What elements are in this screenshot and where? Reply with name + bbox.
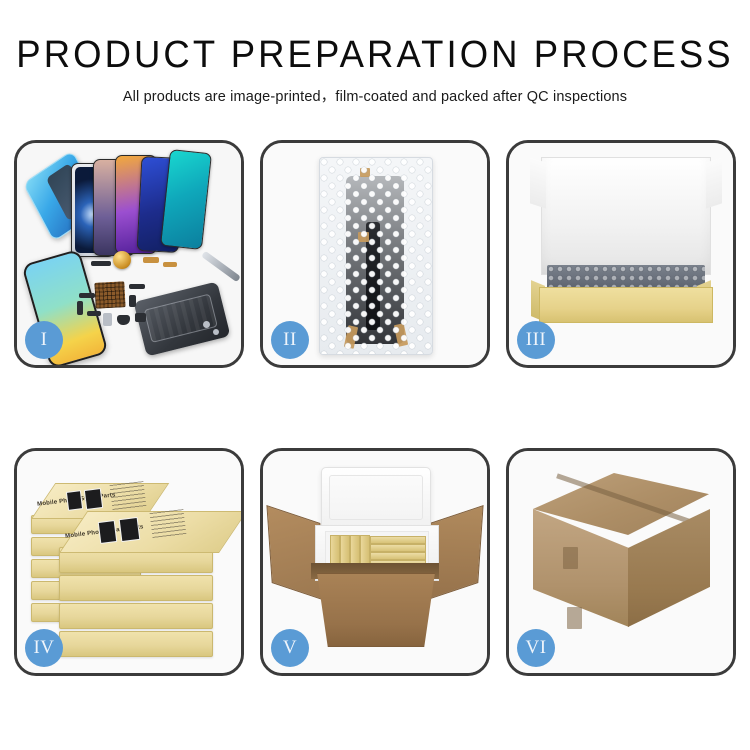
stacked-box bbox=[59, 575, 213, 601]
carton-hand-hole bbox=[563, 547, 578, 569]
spare-part bbox=[135, 313, 146, 322]
packed-box bbox=[370, 552, 426, 560]
carton-sealed-image: VI bbox=[509, 451, 733, 673]
step-badge-4: IV bbox=[25, 629, 63, 667]
spare-part bbox=[87, 311, 101, 316]
carton-hand-hole bbox=[567, 607, 582, 629]
box-lid-open bbox=[541, 157, 711, 275]
step-badge-1: I bbox=[25, 321, 63, 359]
spare-part bbox=[129, 295, 136, 307]
box-label-spec-lines bbox=[150, 509, 187, 539]
box-front-panel bbox=[539, 287, 713, 323]
step-panel-product-overview[interactable]: I bbox=[14, 140, 244, 368]
step-panel-carton-sealed[interactable]: VI bbox=[506, 448, 736, 676]
spare-part bbox=[203, 321, 210, 328]
carton-body bbox=[309, 573, 443, 647]
step-panel-inner-box-packed[interactable]: III bbox=[506, 140, 736, 368]
step-panel-boxes-stacked[interactable]: Mobile Phone Spare Parts Mobile Phone Sp… bbox=[14, 448, 244, 676]
step-badge-6: VI bbox=[517, 629, 555, 667]
copper-shield-part bbox=[94, 281, 125, 309]
boxes-stacked-image: Mobile Phone Spare Parts Mobile Phone Sp… bbox=[17, 451, 241, 673]
foam-carton-loaded-image: V bbox=[263, 451, 487, 673]
box-label-product-image bbox=[66, 490, 83, 511]
spare-part bbox=[103, 313, 112, 326]
step-badge-3: III bbox=[517, 321, 555, 359]
step-panel-bubble-wrapped-part[interactable]: II bbox=[260, 140, 490, 368]
spare-part bbox=[77, 301, 83, 315]
product-overview-image: I bbox=[17, 143, 241, 365]
stacked-box bbox=[59, 603, 213, 629]
box-label-product-image bbox=[119, 517, 141, 542]
stacked-box bbox=[59, 631, 213, 657]
spare-part bbox=[129, 284, 145, 289]
camera-module-part bbox=[113, 251, 131, 269]
page-title: PRODUCT PREPARATION PROCESS bbox=[15, 36, 735, 76]
spare-part bbox=[163, 262, 177, 267]
phone-fan-group bbox=[77, 149, 244, 259]
inner-box-packed-image: III bbox=[509, 143, 733, 365]
box-label-spec-lines bbox=[110, 481, 147, 511]
page-subtitle: All products are image-printed，film-coat… bbox=[0, 85, 750, 106]
bubble-wrap-texture bbox=[320, 158, 432, 354]
packed-box bbox=[370, 536, 426, 544]
spare-part bbox=[213, 329, 219, 335]
phone-chassis-part bbox=[134, 281, 231, 356]
packed-box bbox=[370, 544, 426, 552]
box-label-product-image bbox=[98, 520, 118, 544]
step-badge-2: II bbox=[271, 321, 309, 359]
step-badge-5: V bbox=[271, 629, 309, 667]
step-panel-foam-carton-loaded[interactable]: V bbox=[260, 448, 490, 676]
phone-display-teal bbox=[160, 149, 212, 250]
page-header: PRODUCT PREPARATION PROCESS All products… bbox=[0, 0, 750, 106]
box-label-product-image bbox=[84, 488, 103, 510]
spare-part bbox=[91, 261, 111, 266]
foam-box-lid bbox=[321, 467, 431, 531]
process-steps-grid: I II III bbox=[14, 140, 736, 676]
spare-part bbox=[117, 315, 130, 325]
bubble-wrapped-part-image: II bbox=[263, 143, 487, 365]
spare-part bbox=[79, 293, 95, 298]
bubble-wrap-bag bbox=[319, 157, 433, 355]
spare-part bbox=[143, 257, 159, 263]
